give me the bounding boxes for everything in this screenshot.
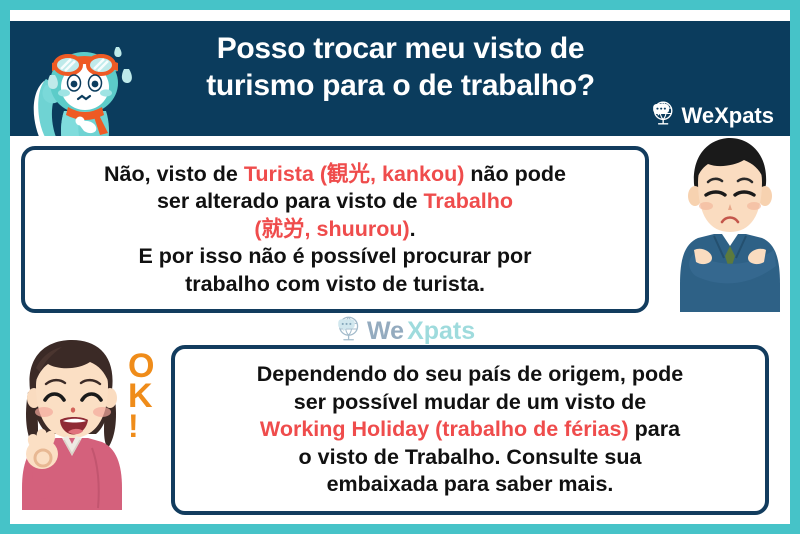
globe-speech-icon bbox=[336, 315, 364, 348]
highlighted-term: Turista (観光, kankou) bbox=[244, 162, 465, 186]
answer-line: trabalho com visto de turista. bbox=[104, 271, 566, 299]
answer-line: ser alterado para visto de Trabalho bbox=[104, 188, 566, 216]
watermark-text-we: We bbox=[367, 317, 404, 346]
plain-text: trabalho com visto de turista. bbox=[185, 272, 485, 296]
answer-box-no: Não, visto de Turista (観光, kankou) não p… bbox=[21, 146, 649, 313]
plain-text: não pode bbox=[464, 162, 566, 186]
man-crossed-arms-icon bbox=[668, 134, 792, 314]
woman-ok-sign-icon bbox=[12, 336, 132, 512]
answer-text-maybe: Dependendo do seu país de origem, podese… bbox=[247, 361, 693, 499]
ok-badge: O K ! bbox=[128, 352, 154, 440]
plain-text: o visto de Trabalho. Consulte sua bbox=[299, 445, 642, 469]
answer-text-no: Não, visto de Turista (観光, kankou) não p… bbox=[94, 161, 576, 299]
page-title: Posso trocar meu visto de turismo para o… bbox=[128, 31, 673, 104]
highlighted-term: (就労, shuurou) bbox=[254, 217, 409, 241]
plain-text: . bbox=[410, 217, 416, 241]
answer-line: ser possível mudar de um visto de bbox=[257, 389, 683, 417]
globe-speech-icon bbox=[651, 100, 678, 132]
answer-line: Dependendo do seu país de origem, pode bbox=[257, 361, 683, 389]
plain-text: ser possível mudar de um visto de bbox=[294, 390, 646, 414]
answer-line: Working Holiday (trabalho de férias) par… bbox=[257, 416, 683, 444]
wexpats-logo-header[interactable]: WeXpats bbox=[651, 100, 774, 132]
plain-text: Não, visto de bbox=[104, 162, 244, 186]
answer-line: o visto de Trabalho. Consulte sua bbox=[257, 444, 683, 472]
watermark-text-xpats: Xpats bbox=[407, 317, 475, 346]
plain-text: Dependendo do seu país de origem, pode bbox=[257, 362, 683, 386]
infographic-canvas: Posso trocar meu visto de turismo para o… bbox=[0, 0, 800, 534]
highlighted-term: Working Holiday (trabalho de férias) bbox=[260, 417, 629, 441]
answer-line: (就労, shuurou). bbox=[104, 216, 566, 244]
plain-text: embaixada para saber mais. bbox=[327, 472, 614, 496]
header-banner: Posso trocar meu visto de turismo para o… bbox=[10, 21, 790, 136]
logo-wordmark: WeXpats bbox=[681, 103, 774, 129]
answer-line: embaixada para saber mais. bbox=[257, 471, 683, 499]
answer-line: E por isso não é possível procurar por bbox=[104, 243, 566, 271]
ok-exclamation: ! bbox=[128, 412, 154, 440]
highlighted-term: Trabalho bbox=[423, 189, 513, 213]
plain-text: para bbox=[629, 417, 680, 441]
wexpats-watermark-logo: WeXpats bbox=[336, 315, 475, 348]
wexpats-mascot-icon bbox=[24, 35, 136, 136]
title-line-2: turismo para o de trabalho? bbox=[128, 68, 673, 105]
title-line-1: Posso trocar meu visto de bbox=[128, 31, 673, 68]
plain-text: ser alterado para visto de bbox=[157, 189, 423, 213]
answer-box-maybe: Dependendo do seu país de origem, podese… bbox=[171, 345, 769, 515]
plain-text: E por isso não é possível procurar por bbox=[138, 244, 531, 268]
answer-line: Não, visto de Turista (観光, kankou) não p… bbox=[104, 161, 566, 189]
